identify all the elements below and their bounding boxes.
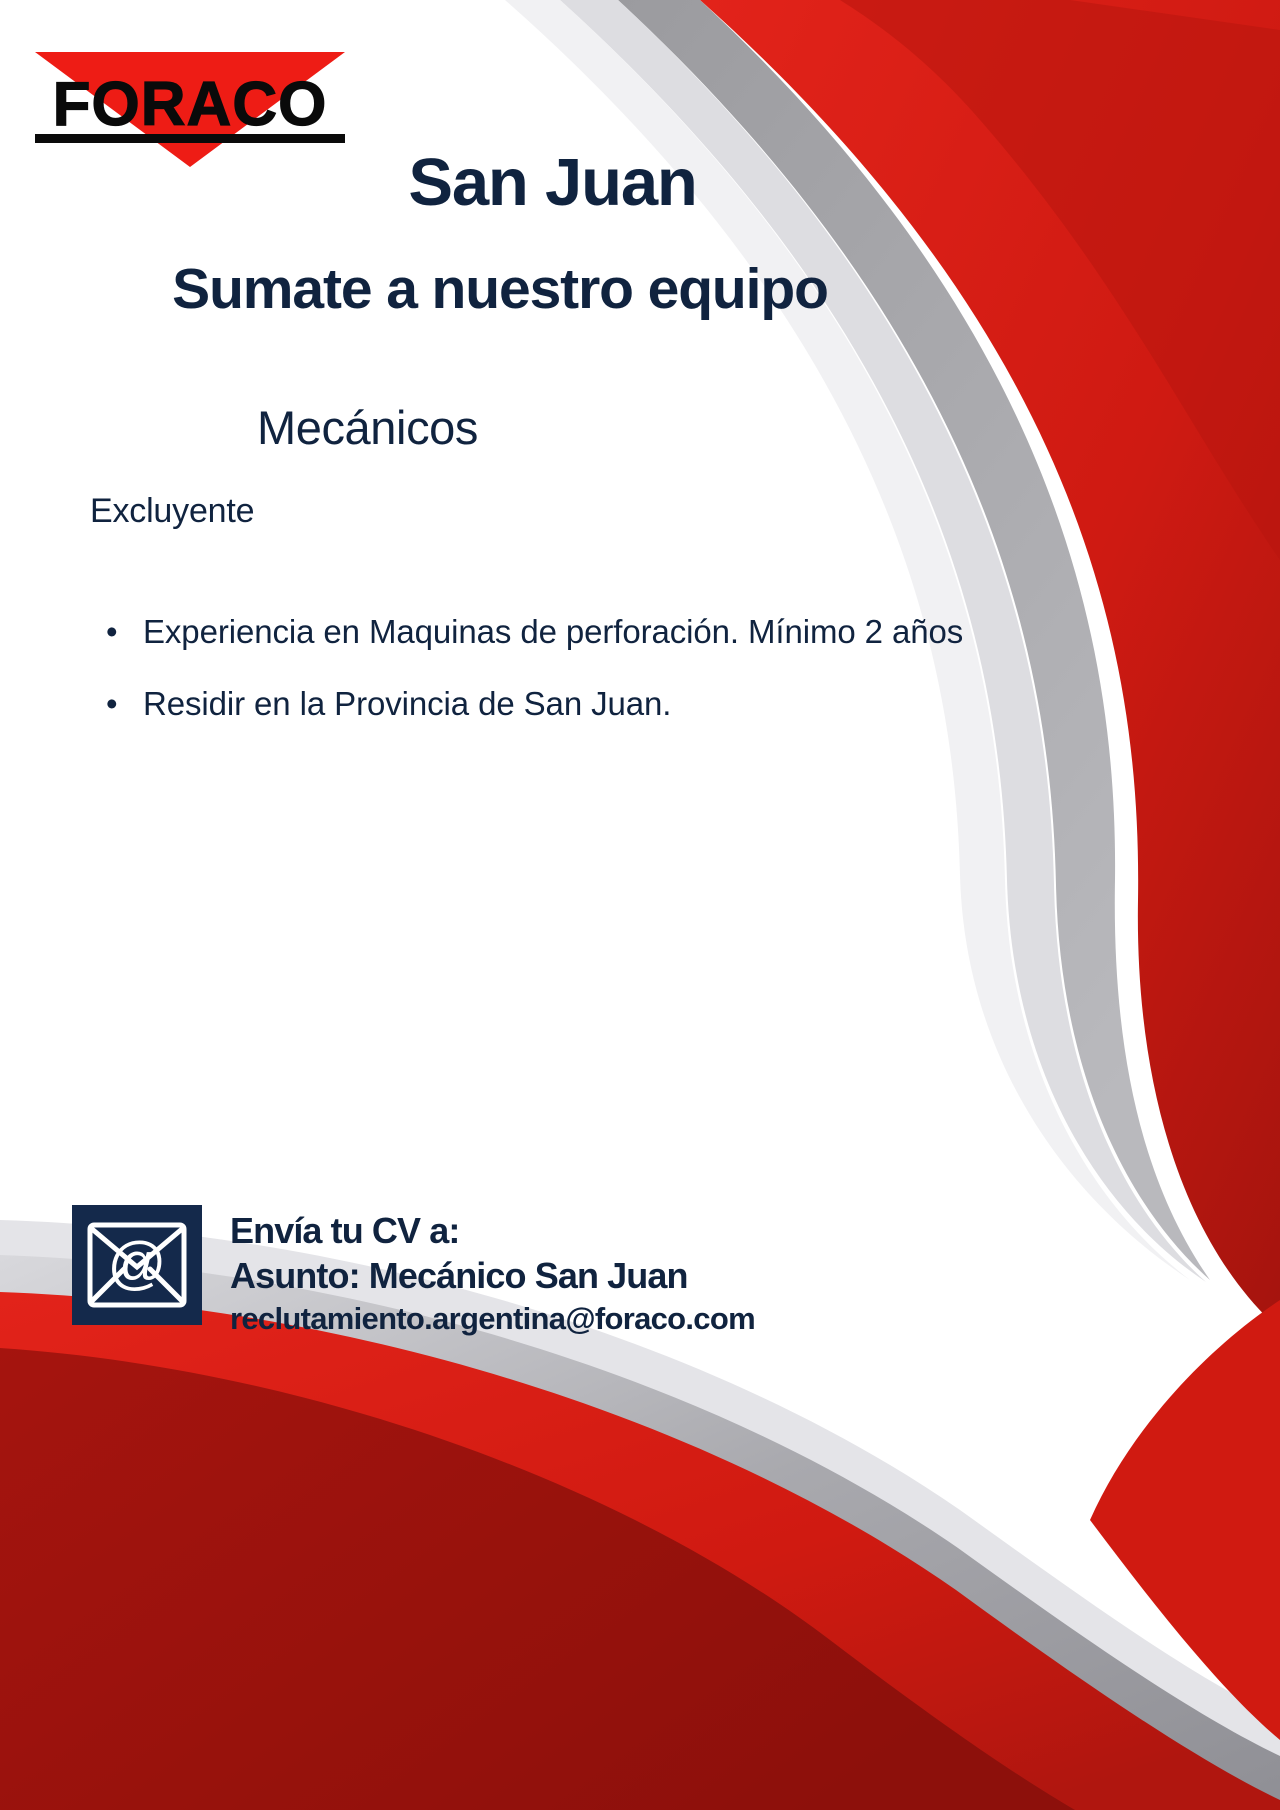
contact-block: @ Envía tu CV a: Asunto: Mecánico San Ju… [72, 1205, 755, 1340]
svg-text:FORACO: FORACO [53, 70, 328, 139]
page-title: San Juan [0, 148, 1105, 218]
svg-text:@: @ [108, 1231, 167, 1296]
contact-text-group: Envía tu CV a: Asunto: Mecánico San Juan… [230, 1205, 755, 1340]
list-item: Residir en la Provincia de San Juan. [90, 672, 1065, 736]
job-role-title: Mecánicos [0, 400, 735, 455]
email-subject-label: Asunto: Mecánico San Juan [230, 1253, 755, 1298]
requirements-section-label: Excluyente [90, 492, 254, 531]
list-item: Experiencia en Maquinas de perforación. … [90, 600, 1065, 664]
page-subtitle: Sumate a nuestro equipo [0, 258, 1000, 321]
requirements-list: Experiencia en Maquinas de perforación. … [90, 600, 1065, 743]
poster-canvas: FORACO San Juan Sumate a nuestro equipo … [0, 0, 1280, 1810]
recruitment-email-address[interactable]: reclutamiento.argentina@foraco.com [230, 1298, 755, 1340]
cv-cta-label: Envía tu CV a: [230, 1208, 755, 1253]
email-envelope-at-icon: @ [72, 1205, 202, 1325]
